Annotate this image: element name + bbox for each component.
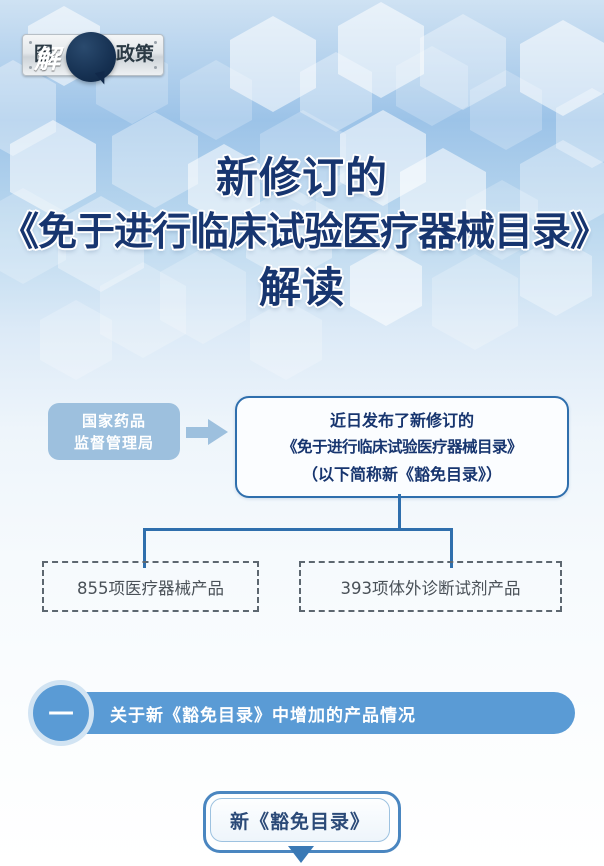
statement-line-2: 《免于进行临床试验医疗器械目录》 <box>282 434 522 461</box>
section-number-badge: 一 <box>33 685 89 741</box>
branch-box-medical-devices: 855项医疗器械产品 <box>42 561 259 612</box>
agency-line-2: 监督管理局 <box>74 432 154 454</box>
statement-line-1: 近日发布了新修订的 <box>330 407 474 434</box>
down-arrow-icon <box>288 846 314 863</box>
right-arrow-icon <box>186 419 228 445</box>
tujie-zhengce-badge[interactable]: 图 政策 解 <box>22 32 162 76</box>
title-line-1: 新修订的 <box>0 150 604 205</box>
statement-box: 近日发布了新修订的 《免于进行临床试验医疗器械目录》 （以下简称新《豁免目录》） <box>235 396 569 498</box>
page-title: 新修订的 《免于进行临床试验医疗器械目录》 解读 <box>0 150 604 315</box>
bottom-bubble-label: 新《豁免目录》 <box>210 798 390 842</box>
branch-box-ivd-reagents: 393项体外诊断试剂产品 <box>299 561 562 612</box>
section-title: 关于新《豁免目录》中增加的产品情况 <box>110 701 416 726</box>
section-header-bar: 关于新《豁免目录》中增加的产品情况 <box>62 692 575 734</box>
screw-icon <box>154 66 157 69</box>
speech-bubble-icon <box>66 32 116 82</box>
agency-line-1: 国家药品 <box>82 410 146 432</box>
title-line-2: 《免于进行临床试验医疗器械目录》 <box>0 205 604 260</box>
connector-stem <box>398 494 401 530</box>
screw-icon <box>154 41 157 44</box>
agency-box: 国家药品 监督管理局 <box>48 403 180 460</box>
badge-bubble-char: 解 <box>22 32 72 82</box>
title-line-3: 解读 <box>0 260 604 315</box>
infographic-page: 图 政策 解 新修订的 《免于进行临床试验医疗器械目录》 解读 国家药品 监督管… <box>0 0 604 866</box>
connector-bar <box>143 528 453 531</box>
statement-line-3: （以下简称新《豁免目录》） <box>302 461 502 488</box>
badge-char-right: 政策 <box>116 43 154 65</box>
